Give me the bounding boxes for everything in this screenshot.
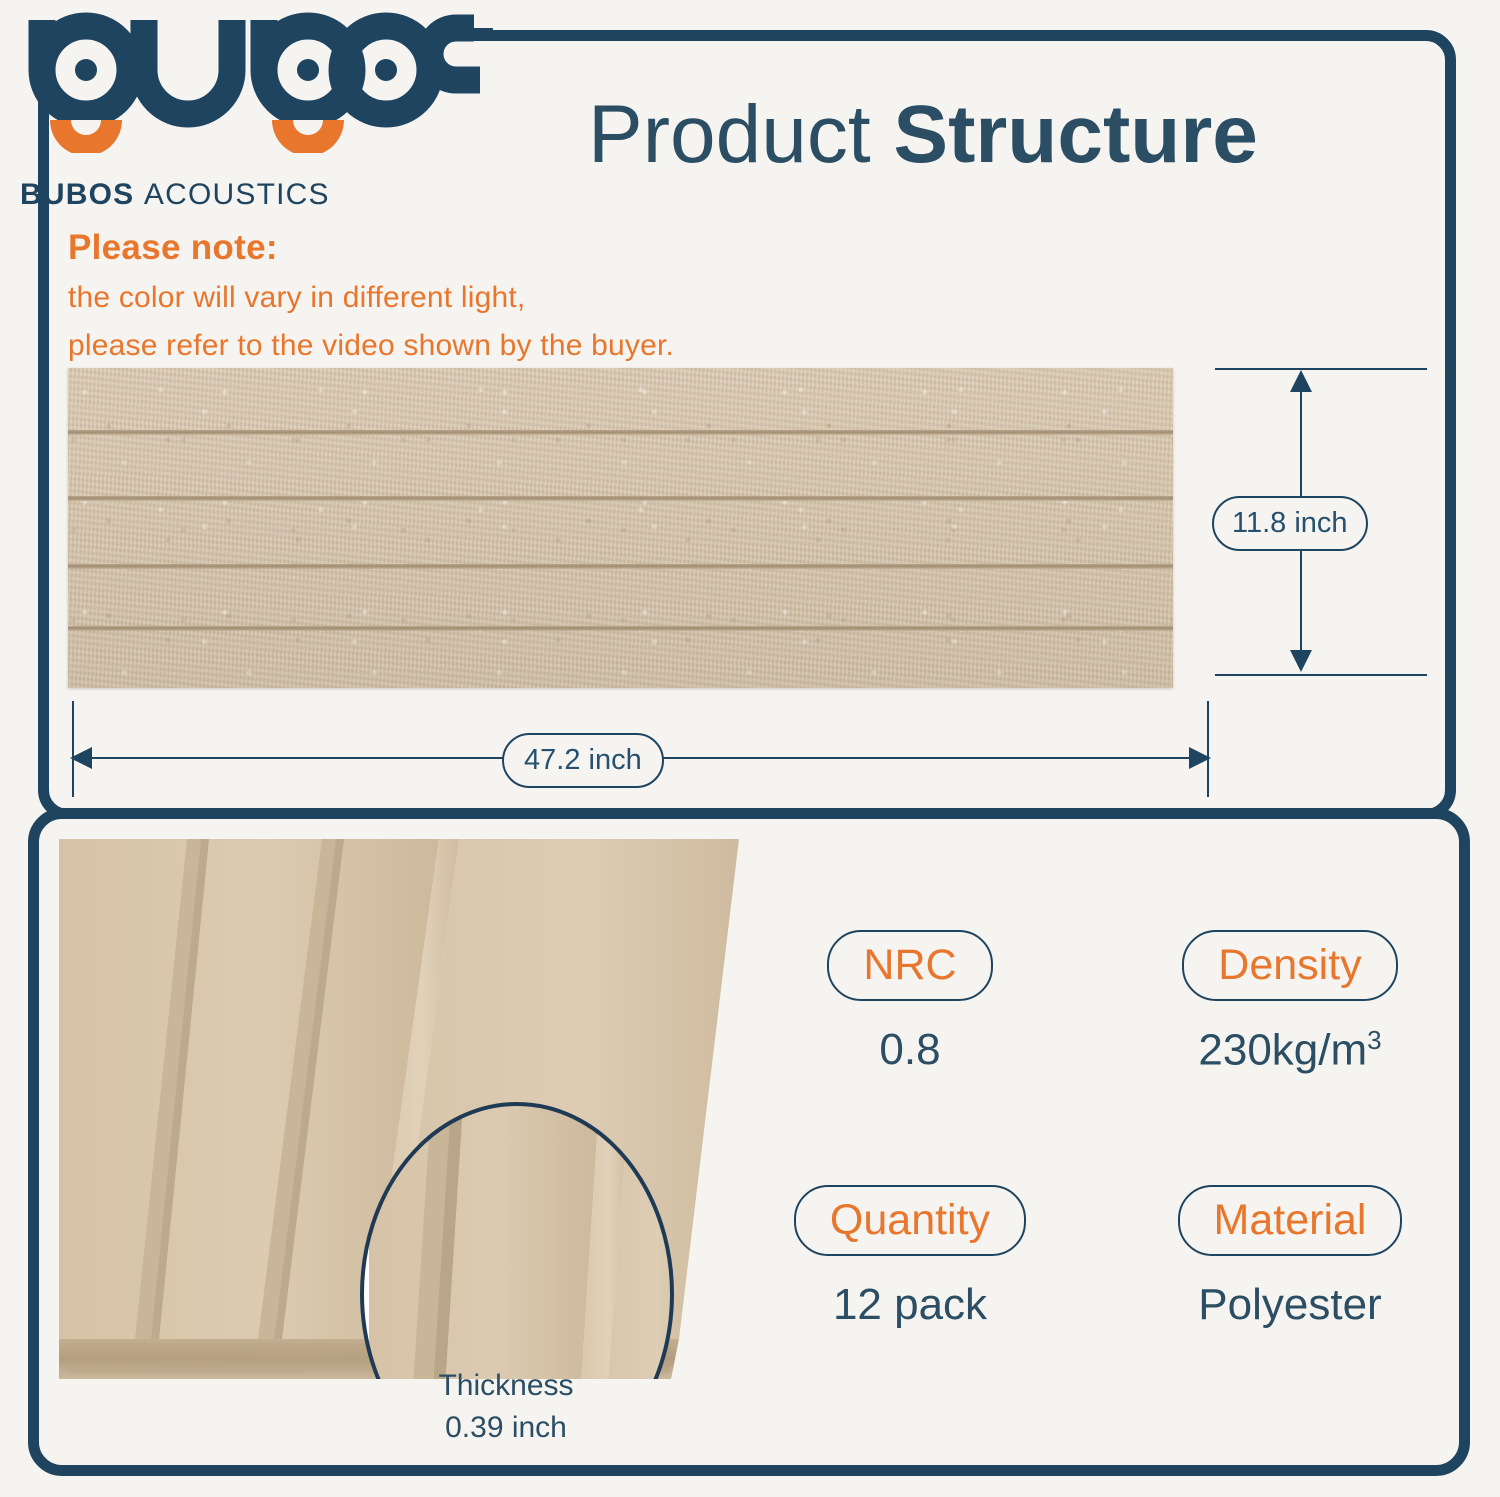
spec-quantity-badge: Quantity [794,1185,1026,1256]
brand-logo [18,8,518,153]
spec-quantity-value: 12 pack [760,1280,1060,1330]
panel-texture-overlay [68,368,1173,688]
spec-grid: NRC 0.8 Density 230kg/m3 Quantity 12 pac… [740,930,1460,1430]
thickness-value: 0.39 inch [356,1407,656,1449]
bubos-owl-logo [18,8,518,153]
logo-eye-dot-right [375,59,397,81]
spec-density-value-text: 230kg/m [1198,1026,1367,1075]
page-title-regular: Product [588,89,893,180]
acoustic-panel-perspective-view [39,819,739,1379]
page-title: Product Structure [588,88,1258,182]
spec-nrc-badge: NRC [827,930,992,1001]
height-ext-line-bottom [1215,674,1427,676]
height-ext-line-top [1215,368,1427,370]
panel-groove-4 [68,626,1173,631]
brand-name-suffix: ACOUSTICS [144,178,330,211]
spec-nrc: NRC 0.8 [760,930,1060,1075]
spec-density-value-sup: 3 [1367,1025,1381,1055]
spec-density-value: 230kg/m3 [1140,1025,1440,1076]
spec-quantity: Quantity 12 pack [760,1185,1060,1330]
spec-density: Density 230kg/m3 [1140,930,1440,1076]
width-dimension: 47.2 inch [52,695,1227,800]
note-line-2: please refer to the video shown by the b… [68,322,898,370]
height-dimension-label: 11.8 inch [1212,496,1368,551]
logo-eye-dot-mid [297,59,319,81]
width-arrow-left-icon [70,747,92,769]
note-line-1: the color will vary in different light, [68,274,898,322]
page-title-bold: Structure [893,89,1258,180]
height-arrow-up-icon [1290,370,1312,392]
spec-density-badge: Density [1182,930,1397,1001]
spec-material-badge: Material [1178,1185,1403,1256]
acoustic-panel-front-view [68,368,1173,688]
height-dimension: 11.8 inch [1195,362,1445,692]
panel-groove-1 [68,430,1173,435]
brand-name-light [134,178,144,211]
spec-material: Material Polyester [1140,1185,1440,1330]
spec-nrc-value: 0.8 [760,1025,1060,1075]
thickness-title: Thickness [356,1365,656,1407]
width-dimension-label: 47.2 inch [502,733,664,788]
thickness-caption: Thickness 0.39 inch [356,1365,656,1449]
brand-name: BUBOS ACOUSTICS [20,178,330,212]
please-note-block: Please note: the color will vary in diff… [68,228,898,370]
height-arrow-down-icon [1290,650,1312,672]
spec-material-value: Polyester [1140,1280,1440,1330]
brand-name-bold: BUBOS [20,178,134,211]
logo-eye-dot-left [75,59,97,81]
infographic-root: BUBOS ACOUSTICS Product Structure Please… [0,0,1500,1497]
width-arrow-right-icon [1189,747,1211,769]
note-title: Please note: [68,228,898,268]
panel-groove-3 [68,564,1173,569]
panel-groove-2 [68,496,1173,501]
